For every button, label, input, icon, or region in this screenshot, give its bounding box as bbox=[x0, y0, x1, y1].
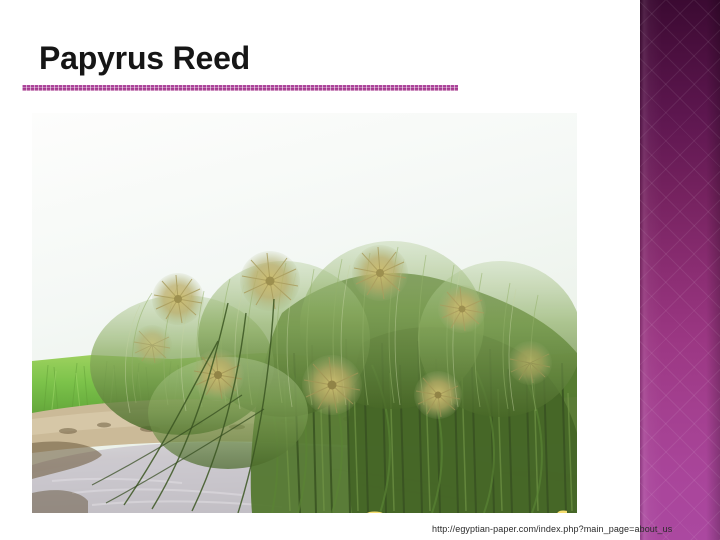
title-underline-bar bbox=[22, 85, 458, 91]
right-decorative-band bbox=[640, 0, 720, 540]
papyrus-photo: Source of Papyrus Paper bbox=[32, 113, 577, 513]
papyrus-photo-illustration bbox=[32, 113, 577, 513]
source-url-label: http://egyptian-paper.com/index.php?main… bbox=[432, 524, 672, 534]
photo-caption-primary: Source of bbox=[360, 504, 567, 513]
slide-canvas: Papyrus Reed bbox=[0, 0, 720, 540]
page-title: Papyrus Reed bbox=[39, 38, 250, 78]
